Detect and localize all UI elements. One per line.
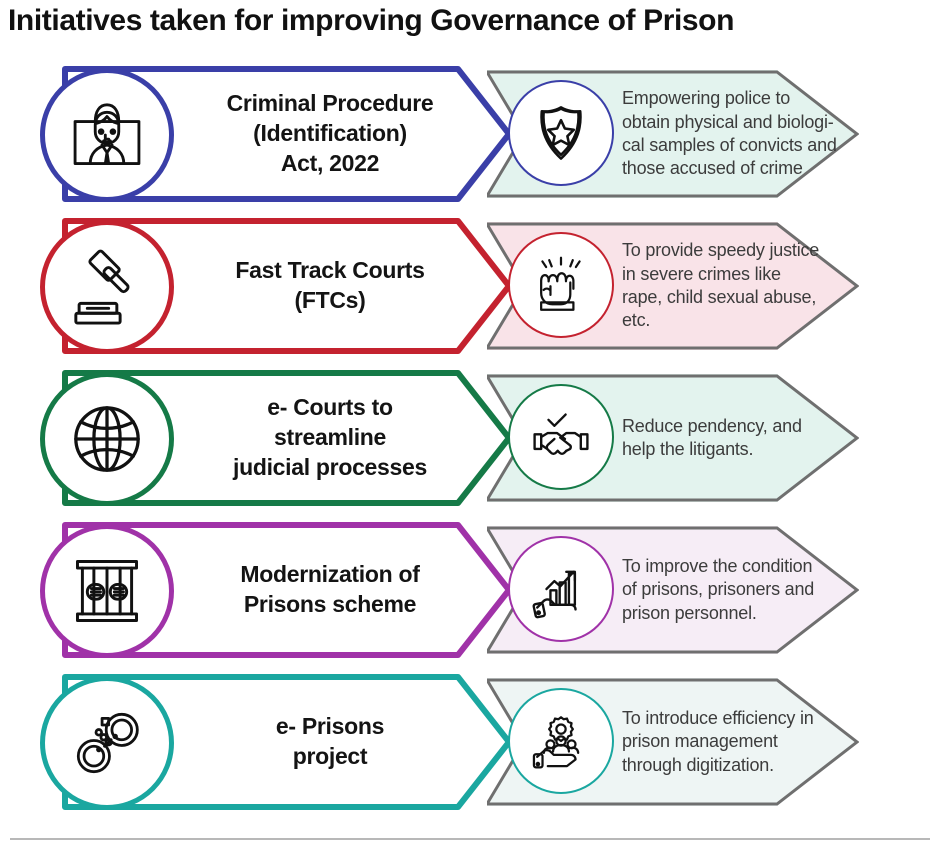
initiative-row: e- Courts tostreamlinejudicial processes… (0, 362, 940, 514)
initiative-label-line: Prisons scheme (240, 590, 419, 620)
initiative-label-line: (FTCs) (235, 286, 424, 316)
gavel-icon (40, 220, 174, 354)
initiative-description-line: Empowering police to (622, 87, 837, 110)
initiative-description-line: of prisons, prisoners and (622, 578, 814, 601)
handshake-check-icon (508, 384, 614, 490)
hand-growth-chart-icon (508, 536, 614, 642)
id-card-person-icon (40, 68, 174, 202)
initiative-description-line: those accused of crime (622, 157, 837, 180)
initiative-description-line: through digitization. (622, 754, 814, 777)
prison-bars-hands-icon (40, 524, 174, 658)
initiative-label: Fast Track Courts(FTCs) (180, 218, 480, 354)
initiative-description-line: To improve the condition (622, 555, 814, 578)
initiative-description-line: obtain physical and biologi- (622, 111, 837, 134)
initiative-row: Modernization ofPrisons scheme To improv… (0, 514, 940, 666)
initiative-label-line: (Identification) (227, 119, 434, 149)
initiative-row: e- Prisonsproject To introduce efficienc… (0, 666, 940, 818)
initiative-row: Fast Track Courts(FTCs) To provide speed… (0, 210, 940, 362)
initiative-description-line: Reduce pendency, and (622, 415, 802, 438)
initiative-description-line: To provide speedy justice (622, 239, 819, 262)
initiative-label: e- Prisonsproject (180, 674, 480, 810)
raised-fist-icon (508, 232, 614, 338)
initiative-description-line: etc. (622, 309, 819, 332)
initiative-description: Empowering police toobtain physical and … (622, 70, 844, 198)
initiative-description-line: To introduce efficiency in (622, 707, 814, 730)
initiative-description-line: rape, child sexual abuse, (622, 286, 819, 309)
initiative-label: Criminal Procedure(Identification)Act, 2… (180, 66, 480, 202)
initiative-label-line: Fast Track Courts (235, 256, 424, 286)
initiative-description-line: help the litigants. (622, 438, 802, 461)
initiative-label-line: project (276, 742, 384, 772)
page-title: Initiatives taken for improving Governan… (8, 4, 932, 38)
initiative-description: To improve the conditionof prisons, pris… (622, 526, 844, 654)
initiative-description-line: prison management (622, 730, 814, 753)
initiative-label-line: judicial processes (233, 453, 427, 483)
initiative-row: Criminal Procedure(Identification)Act, 2… (0, 58, 940, 210)
initiative-label-line: Criminal Procedure (227, 89, 434, 119)
initiative-label: Modernization ofPrisons scheme (180, 522, 480, 658)
police-badge-star-icon (508, 80, 614, 186)
initiative-label-line: e- Prisons (276, 712, 384, 742)
initiative-label-line: e- Courts to (233, 393, 427, 423)
initiative-description: To provide speedy justicein severe crime… (622, 222, 844, 350)
initiative-label-line: streamline (233, 423, 427, 453)
initiative-description-line: prison personnel. (622, 602, 814, 625)
initiative-label-line: Modernization of (240, 560, 419, 590)
footer-divider (10, 838, 930, 840)
initiative-description: Reduce pendency, andhelp the litigants. (622, 374, 844, 502)
globe-icon (40, 372, 174, 506)
initiative-label: e- Courts tostreamlinejudicial processes (180, 370, 480, 506)
initiative-label-line: Act, 2022 (227, 149, 434, 179)
initiative-description-line: cal samples of convicts and (622, 134, 837, 157)
initiatives-list: Criminal Procedure(Identification)Act, 2… (0, 58, 940, 834)
hand-gear-people-icon (508, 688, 614, 794)
initiative-description-line: in severe crimes like (622, 263, 819, 286)
initiative-description: To introduce efficiency inprison managem… (622, 678, 844, 806)
handcuffs-icon (40, 676, 174, 810)
